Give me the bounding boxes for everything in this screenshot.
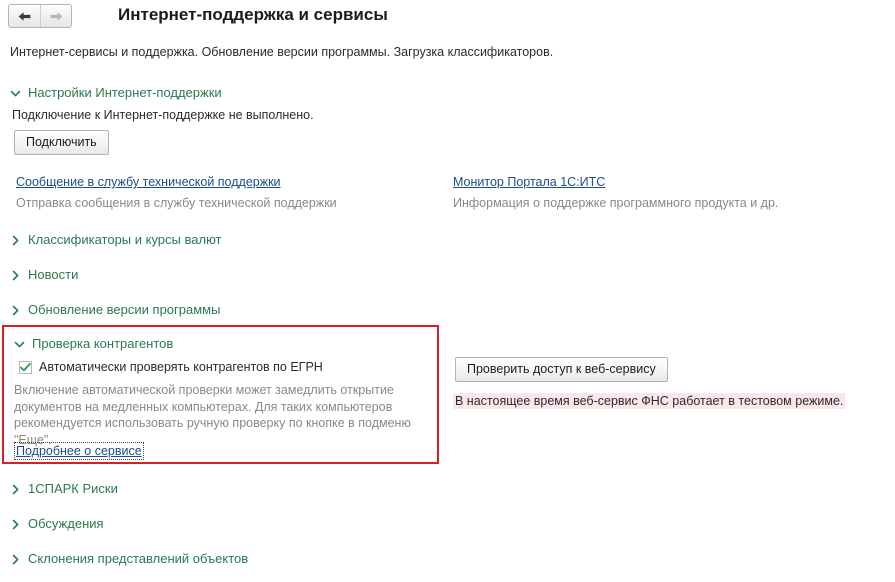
section-classifiers: Классификаторы и курсы валют — [10, 232, 222, 247]
section-label: Склонения представлений объектов — [28, 551, 248, 566]
chevron-down-icon — [14, 338, 25, 349]
chevron-right-icon — [10, 553, 21, 564]
auto-check-egrn-checkbox[interactable] — [19, 361, 32, 374]
back-button[interactable] — [9, 5, 40, 27]
section-header-spark-risks[interactable]: 1СПАРК Риски — [10, 481, 118, 496]
section-counterparty-check: Проверка контрагентов — [14, 336, 173, 351]
section-news: Новости — [10, 267, 78, 282]
its-portal-monitor-link[interactable]: Монитор Портала 1С:ИТС — [453, 175, 605, 189]
counterparty-check-description: Включение автоматической проверки может … — [14, 382, 429, 448]
more-about-service-link[interactable]: Подробнее о сервисе — [16, 444, 142, 458]
more-about-service-link-wrap: Подробнее о сервисе — [16, 444, 142, 458]
section-header-program-update[interactable]: Обновление версии программы — [10, 302, 220, 317]
webservice-warning-text: В настоящее время веб-сервис ФНС работае… — [453, 393, 845, 409]
section-label: Настройки Интернет-поддержки — [28, 85, 222, 100]
page-title: Интернет-поддержка и сервисы — [118, 5, 388, 25]
auto-check-egrn-label: Автоматически проверять контрагентов по … — [39, 360, 323, 374]
arrow-right-icon — [49, 11, 64, 22]
webservice-warning-wrap: В настоящее время веб-сервис ФНС работае… — [453, 394, 845, 408]
auto-check-egrn-row[interactable]: Автоматически проверять контрагентов по … — [19, 360, 323, 374]
chevron-right-icon — [10, 518, 21, 529]
window-toolbar: Интернет-поддержка и сервисы — [0, 0, 895, 36]
section-object-declensions: Склонения представлений объектов — [10, 551, 248, 566]
section-program-update: Обновление версии программы — [10, 302, 220, 317]
section-discussions: Обсуждения — [10, 516, 104, 531]
section-header-internet-support[interactable]: Настройки Интернет-поддержки — [10, 85, 222, 100]
section-label: Обсуждения — [28, 516, 104, 531]
check-webservice-button-wrap: Проверить доступ к веб-сервису — [455, 357, 668, 382]
chevron-down-icon — [10, 87, 21, 98]
chevron-right-icon — [10, 483, 21, 494]
section-header-counterparty-check[interactable]: Проверка контрагентов — [14, 336, 173, 351]
its-portal-monitor-link-block: Монитор Портала 1С:ИТС Информация о подд… — [453, 175, 778, 210]
section-label: Проверка контрагентов — [32, 336, 173, 351]
section-header-discussions[interactable]: Обсуждения — [10, 516, 104, 531]
section-header-classifiers[interactable]: Классификаторы и курсы валют — [10, 232, 222, 247]
chevron-right-icon — [10, 234, 21, 245]
its-portal-monitor-description: Информация о поддержке программного прод… — [453, 196, 778, 210]
section-header-object-declensions[interactable]: Склонения представлений объектов — [10, 551, 248, 566]
support-message-description: Отправка сообщения в службу технической … — [16, 196, 337, 210]
section-label: 1СПАРК Риски — [28, 481, 118, 496]
internet-support-status: Подключение к Интернет-поддержке не выпо… — [12, 108, 314, 122]
section-label: Обновление версии программы — [28, 302, 220, 317]
connect-button[interactable]: Подключить — [14, 130, 109, 155]
connect-button-wrap: Подключить — [14, 130, 109, 155]
check-webservice-access-button[interactable]: Проверить доступ к веб-сервису — [455, 357, 668, 382]
section-label: Классификаторы и курсы валют — [28, 232, 222, 247]
chevron-right-icon — [10, 304, 21, 315]
check-icon — [20, 363, 31, 372]
section-label: Новости — [28, 267, 78, 282]
chevron-right-icon — [10, 269, 21, 280]
page-subtitle: Интернет-сервисы и поддержка. Обновление… — [10, 45, 553, 59]
section-header-news[interactable]: Новости — [10, 267, 78, 282]
support-message-link[interactable]: Сообщение в службу технической поддержки — [16, 175, 281, 189]
support-message-link-block: Сообщение в службу технической поддержки… — [16, 175, 337, 210]
section-internet-support: Настройки Интернет-поддержки — [10, 85, 222, 100]
forward-button[interactable] — [40, 5, 71, 27]
navigation-buttons — [8, 4, 72, 28]
arrow-left-icon — [17, 11, 32, 22]
section-spark-risks: 1СПАРК Риски — [10, 481, 118, 496]
